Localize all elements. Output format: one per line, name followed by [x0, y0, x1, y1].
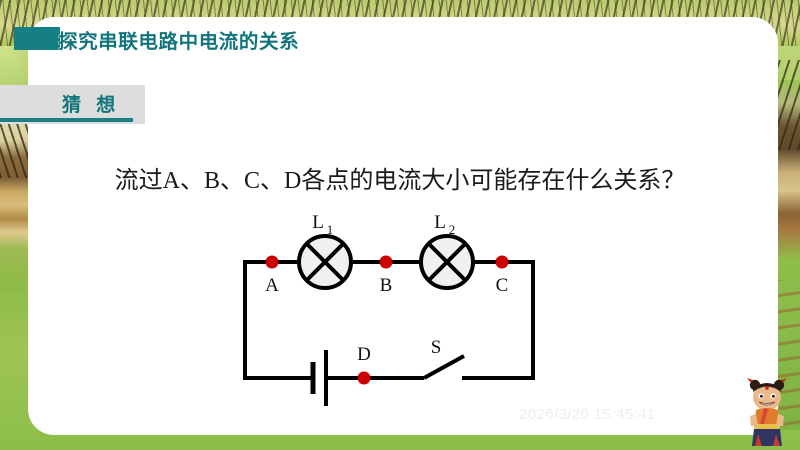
mascot-head	[753, 383, 781, 411]
question-text: 流过A、B、C、D各点的电流大小可能存在什么关系？	[0, 160, 800, 195]
page-title: 探究串联电路中电流的关系	[58, 25, 299, 54]
timestamp-watermark: 2026/3/20 15:45:41	[519, 406, 656, 423]
mascot-body	[750, 408, 784, 446]
mascot-character	[738, 376, 796, 448]
content-card	[28, 17, 778, 435]
slide-canvas: 探究串联电路中电流的关系 猜 想 流过A、B、C、D各点的电流大小可能存在什么关…	[0, 0, 800, 450]
title-accent-bar	[14, 27, 60, 50]
section-underline	[0, 118, 133, 122]
section-label-guess: 猜 想	[62, 90, 120, 117]
